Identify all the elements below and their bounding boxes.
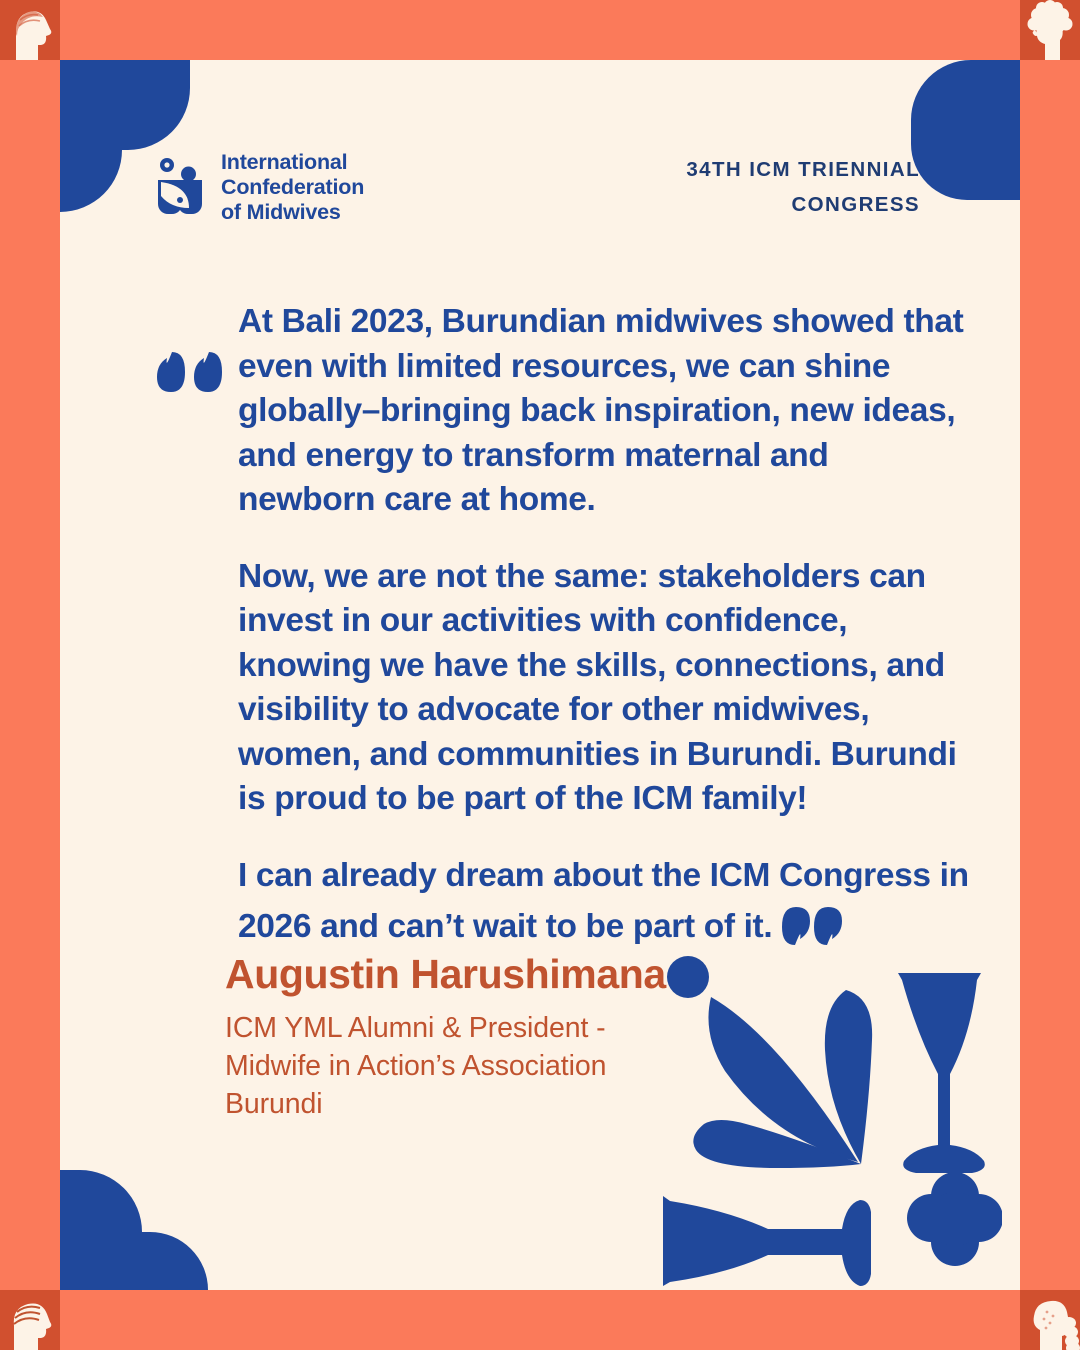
goblet-shape-icon [663,1196,871,1286]
quote-paragraph-2: Now, we are not the same: stakeholders c… [238,555,972,822]
icm-logo: International Confederation of Midwives [155,150,364,225]
card-header: International Confederation of Midwives … [60,60,1020,240]
corner-portrait-top-left [0,0,60,60]
corner-portrait-top-right [1020,0,1080,60]
dot-shape-icon [667,956,709,998]
congress-title: 34TH ICM TRIENNIAL CONGRESS [560,152,920,223]
quote-text: At Bali 2023, Burundian midwives showed … [160,300,972,949]
corner-portrait-bottom-left [0,1290,60,1350]
clover-shape-icon [907,1172,1002,1266]
portrait-silhouette-afro-icon [1020,0,1080,60]
portrait-silhouette-braid-icon [1020,1290,1080,1350]
scallop-bottom-left-ornament [60,1140,235,1290]
portrait-silhouette-headwrap-icon [0,1290,60,1350]
icm-wordmark: International Confederation of Midwives [221,150,364,225]
portrait-silhouette-long-hair-icon [0,0,60,60]
icm-mother-child-logo-icon [155,156,207,218]
open-quote-icon [155,352,227,408]
decorative-still-life [650,930,1002,1286]
still-life-shapes [650,930,1002,1286]
corner-portrait-bottom-right [1020,1290,1080,1350]
quote-paragraph-1: At Bali 2023, Burundian midwives showed … [238,300,972,523]
quote-block: At Bali 2023, Burundian midwives showed … [160,300,972,949]
poster-root: International Confederation of Midwives … [0,0,1080,1350]
content-card: International Confederation of Midwives … [60,60,1020,1290]
goblet-shape-icon [898,973,985,1173]
